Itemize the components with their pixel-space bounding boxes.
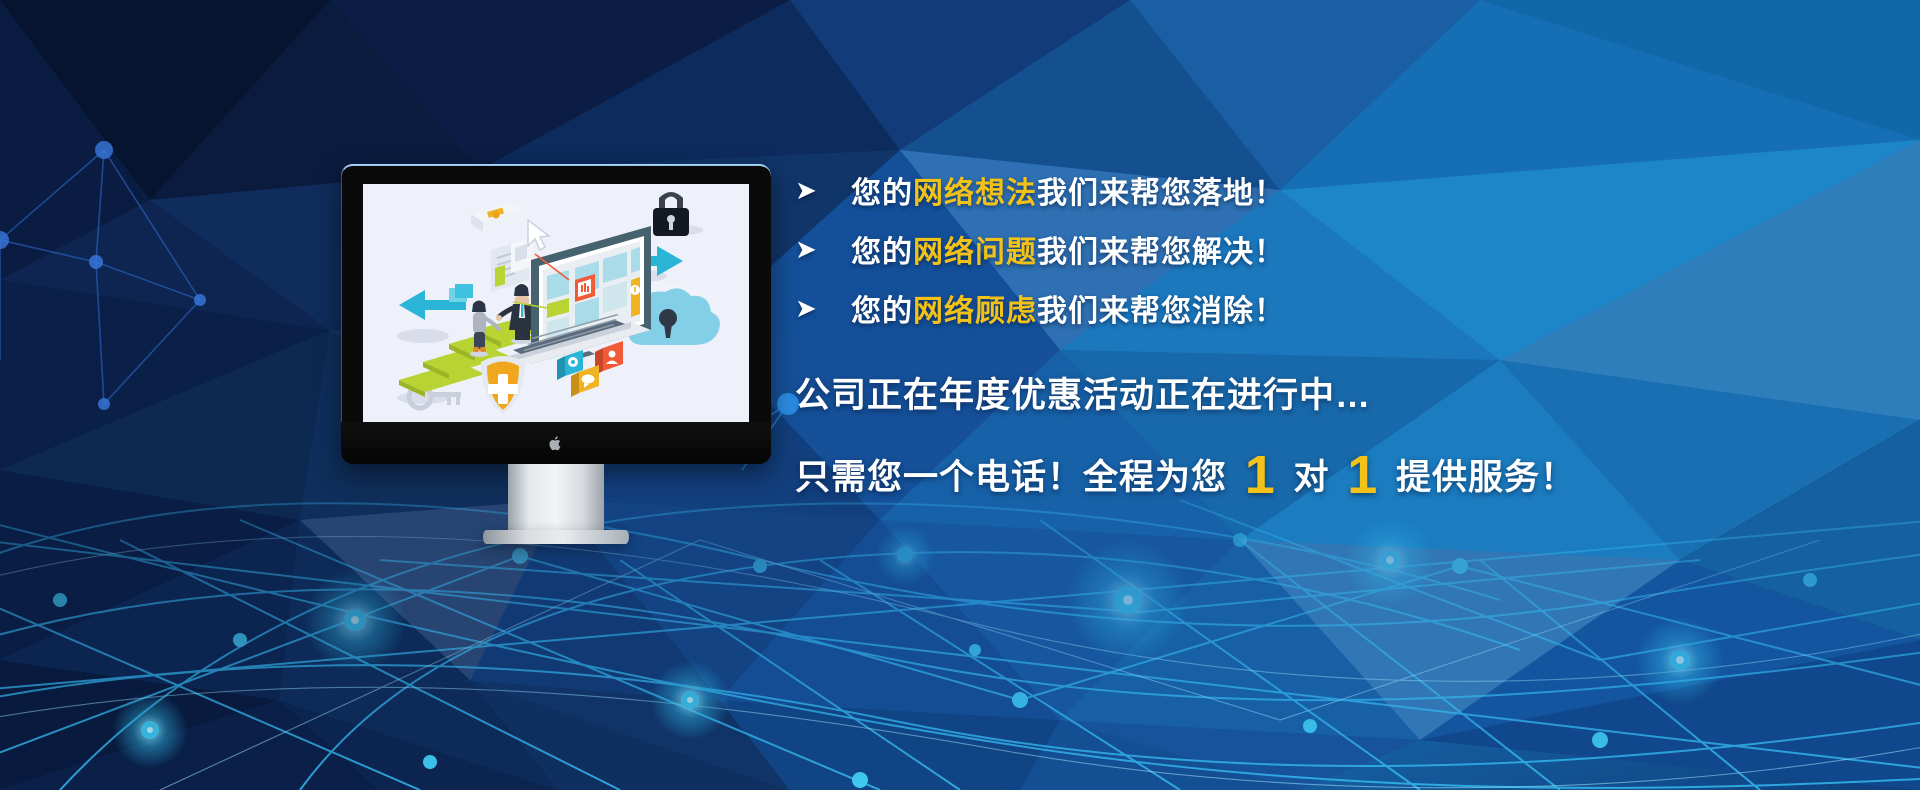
bullet-3-post: 我们来帮您消除！: [1037, 295, 1285, 328]
promo-statement: 公司正在年度优惠活动正在进行中…: [795, 367, 1575, 418]
bullet-text-1: 您的网络想法我们来帮您落地！: [851, 168, 1285, 212]
bullet-1-post: 我们来帮您落地！: [1037, 177, 1285, 210]
bullet-2-highlight: 网络问题: [913, 236, 1037, 269]
bullet-3-highlight: 网络顾虑: [913, 295, 1037, 328]
bullet-item-2: ➤ 您的网络问题我们来帮您解决！: [795, 219, 1575, 278]
monitor-stand-neck: [508, 464, 604, 534]
bullet-item-1: ➤ 您的网络想法我们来帮您落地！: [795, 160, 1575, 219]
promo-banner: ➤ 您的网络想法我们来帮您落地！ ➤ 您的网络问题我们来帮您解决！ ➤ 您的网络…: [0, 0, 1920, 790]
monitor-stand-foot: [483, 530, 629, 544]
service-mid: 对: [1283, 458, 1340, 497]
arrow-bullet-icon: ➤: [795, 295, 829, 321]
bullet-1-highlight: 网络想法: [913, 177, 1037, 210]
service-number-one-b: 1: [1340, 445, 1385, 505]
arrow-bullet-icon: ➤: [795, 177, 829, 203]
bullet-2-pre: 您的: [851, 236, 913, 269]
service-statement: 只需您一个电话！全程为您 1 对 1 提供服务！: [795, 449, 1575, 500]
monitor-screen: [363, 184, 749, 422]
bullet-2-post: 我们来帮您解决！: [1037, 236, 1285, 269]
banner-copy: ➤ 您的网络想法我们来帮您落地！ ➤ 您的网络问题我们来帮您解决！ ➤ 您的网络…: [795, 160, 1575, 500]
apple-logo-icon: [549, 435, 563, 452]
network-security-illustration: [363, 184, 749, 422]
bullet-text-3: 您的网络顾虑我们来帮您消除！: [851, 286, 1285, 330]
monitor-chin: [341, 422, 771, 464]
desktop-monitor: [341, 164, 771, 464]
bullet-3-pre: 您的: [851, 295, 913, 328]
service-pre: 只需您一个电话！全程为您: [795, 458, 1238, 497]
bullet-item-3: ➤ 您的网络顾虑我们来帮您消除！: [795, 278, 1575, 337]
service-post: 提供服务！: [1385, 458, 1576, 497]
arrow-bullet-icon: ➤: [795, 236, 829, 262]
service-number-one-a: 1: [1238, 445, 1283, 505]
bullet-1-pre: 您的: [851, 177, 913, 210]
bullet-text-2: 您的网络问题我们来帮您解决！: [851, 227, 1285, 271]
